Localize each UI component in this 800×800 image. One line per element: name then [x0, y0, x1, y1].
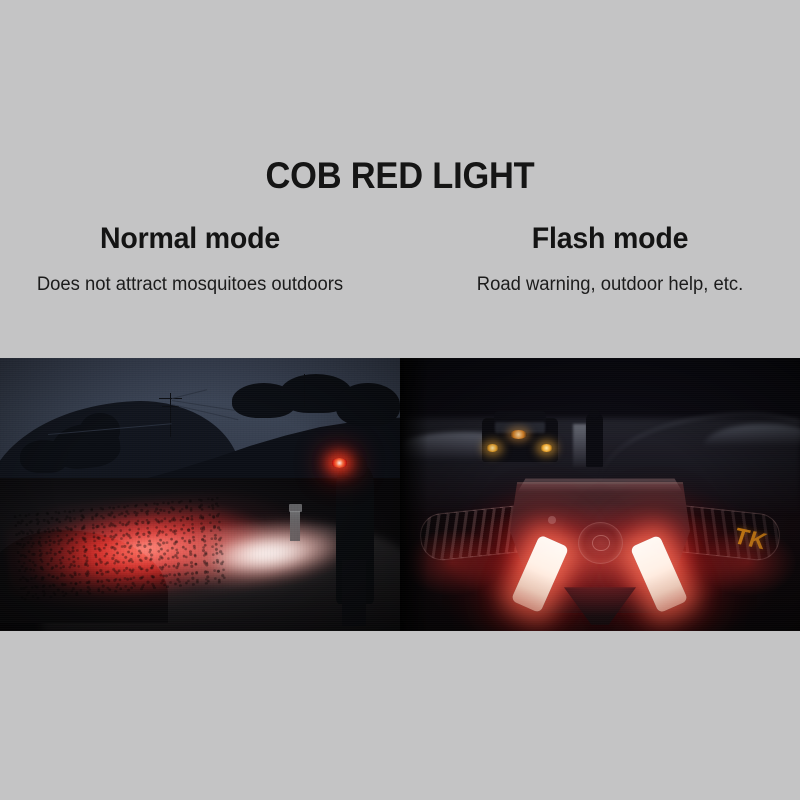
- headlamp-red-glow-icon: [332, 458, 346, 468]
- red-light-bloom: [680, 516, 800, 609]
- utility-pole: [170, 393, 172, 437]
- marker-post: [290, 511, 300, 541]
- tree-silhouette: [336, 383, 400, 427]
- normal-mode-photo: [0, 358, 400, 631]
- product-feature-slide: COB RED LIGHT Normal mode Does not attra…: [0, 0, 800, 800]
- person-head: [342, 455, 367, 478]
- gravel-texture: [13, 497, 228, 602]
- normal-mode-description: Does not attract mosquitoes outdoors: [0, 271, 384, 299]
- car-headlight-icon: [540, 444, 553, 452]
- flash-mode-photo: TK: [400, 358, 800, 631]
- utility-pole: [304, 374, 305, 407]
- car-headlight-icon: [486, 444, 499, 452]
- flash-mode-text-column: Flash mode Road warning, outdoor help, e…: [410, 222, 800, 299]
- normal-mode-title: Normal mode: [0, 222, 380, 256]
- car-cabin-light: [510, 430, 527, 438]
- sensor-dot-icon: [548, 516, 557, 524]
- flash-mode-title: Flash mode: [420, 222, 800, 256]
- normal-mode-text-column: Normal mode Does not attract mosquitoes …: [0, 222, 390, 299]
- housing-top-ridge: [517, 478, 683, 492]
- pole-crossbar: [159, 398, 181, 399]
- person-silhouette: [586, 413, 603, 468]
- person-legs: [342, 560, 366, 626]
- photo-band: TK: [0, 358, 800, 631]
- flash-mode-description: Road warning, outdoor help, etc.: [416, 271, 800, 299]
- tree-silhouette: [20, 440, 68, 473]
- page-title: COB RED LIGHT: [28, 155, 772, 197]
- photo-edge-shade: [400, 358, 428, 631]
- person-head: [589, 409, 600, 418]
